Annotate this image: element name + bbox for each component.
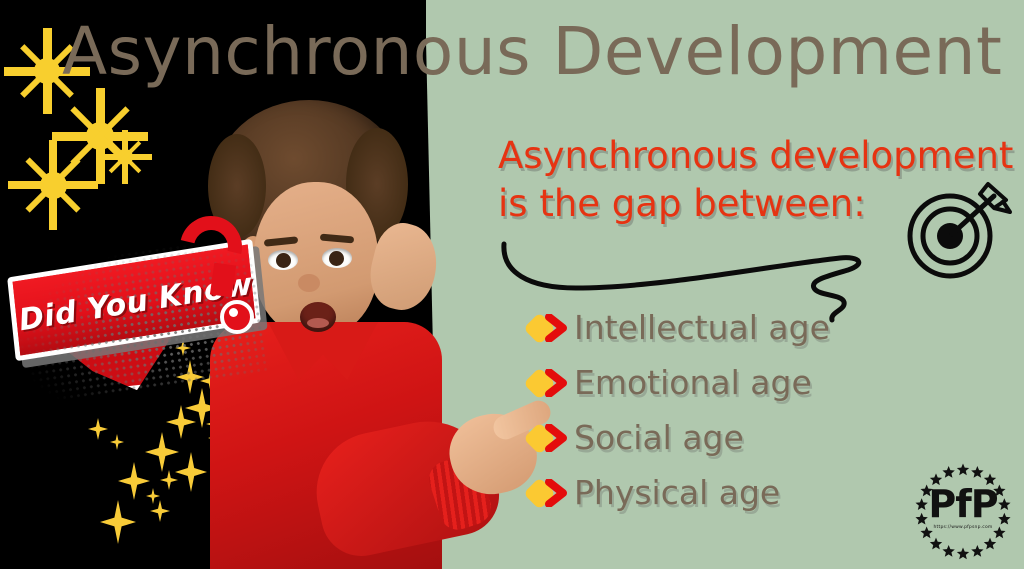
list-item-label: Physical age (574, 473, 780, 513)
arrow-bullet-icon (528, 421, 574, 455)
list-item-label: Emotional age (574, 363, 812, 403)
page-title: Asynchronous Development (62, 12, 1002, 92)
did-you-know-badge: Did You Know (4, 210, 272, 390)
list-item[interactable]: Social age (528, 410, 998, 465)
list-item-label: Social age (574, 418, 744, 458)
question-mark-icon (174, 212, 260, 322)
logo-wordmark: PfP (912, 484, 1014, 524)
arrow-bullet-icon (528, 476, 574, 510)
arrow-bullet-icon (528, 366, 574, 400)
arrow-bullet-icon (528, 311, 574, 345)
sparkle-star-icon (98, 130, 152, 184)
subheading-line-1: Asynchronous development (498, 134, 1013, 177)
poster-canvas: Asynchronous Development Did You Know (0, 0, 1024, 569)
subheading-line-2: is the gap between: (498, 180, 1018, 228)
subheading: Asynchronous development is the gap betw… (498, 132, 1018, 228)
list-item-label: Intellectual age (574, 308, 830, 348)
list-item[interactable]: Intellectual age (528, 300, 998, 355)
pfp-logo[interactable]: PfP https://www.pfpsnp.com (912, 462, 1014, 562)
list-item[interactable]: Emotional age (528, 355, 998, 410)
logo-url: https://www.pfpsnp.com (912, 524, 1014, 531)
